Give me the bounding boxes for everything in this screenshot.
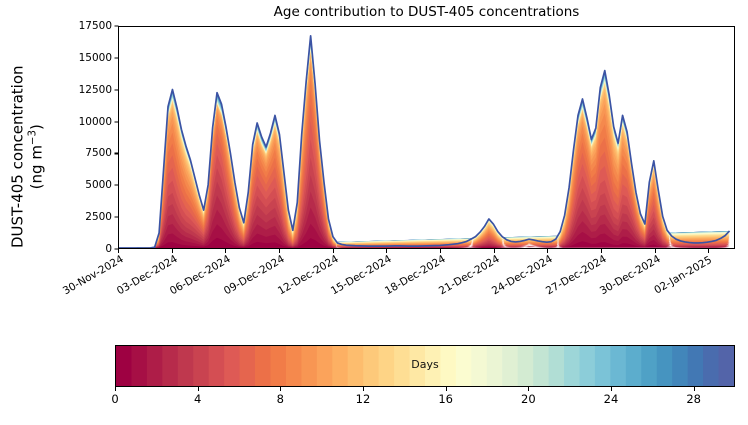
x-tick-mark [708,249,709,253]
x-tick-mark [655,249,656,253]
chart-title: Age contribution to DUST-405 concentrati… [118,4,735,20]
y-tick-mark [115,26,119,27]
stacked-area-plot [119,27,734,248]
y-tick-mark [115,57,119,58]
colorbar-tick-label: 16 [438,392,453,406]
colorbar-tick-mark [446,387,447,391]
y-tick-label: 2500 [52,211,112,223]
y-tick-label: 15000 [52,52,112,64]
plot-area [118,26,735,249]
colorbar-tick-label: 24 [604,392,619,406]
x-tick-mark [333,249,334,253]
colorbar-tick-label: 28 [686,392,701,406]
x-tick-mark [172,249,173,253]
colorbar-tick-mark [198,387,199,391]
colorbar-gradient [116,346,734,386]
colorbar-tick-mark [611,387,612,391]
colorbar-tick-mark [528,387,529,391]
colorbar[interactable] [115,345,735,387]
x-tick-mark [494,249,495,253]
colorbar-tick-label: 0 [111,392,118,406]
y-tick-label: 7500 [52,147,112,159]
y-tick-label: 5000 [52,179,112,191]
y-tick-mark [115,121,119,122]
colorbar-tick-mark [694,387,695,391]
y-axis-ticks: 025005000750010000125001500017500 [0,0,112,425]
colorbar-tick-label: 20 [521,392,536,406]
y-tick-label: 12500 [52,84,112,96]
y-tick-label: 0 [52,243,112,255]
colorbar-tick-label: 8 [277,392,284,406]
colorbar-tick-mark [363,387,364,391]
colorbar-tick-label: 4 [194,392,201,406]
y-tick-mark [115,185,119,186]
y-tick-mark [115,217,119,218]
y-tick-mark [115,89,119,90]
figure-root: Age contribution to DUST-405 concentrati… [0,0,748,425]
y-tick-mark [115,153,119,154]
y-tick-label: 10000 [52,116,112,128]
x-tick-mark [601,249,602,253]
colorbar-tick-label: 12 [356,392,371,406]
colorbar-tick-mark [280,387,281,391]
colorbar-tick-mark [115,387,116,391]
y-tick-label: 17500 [52,20,112,32]
